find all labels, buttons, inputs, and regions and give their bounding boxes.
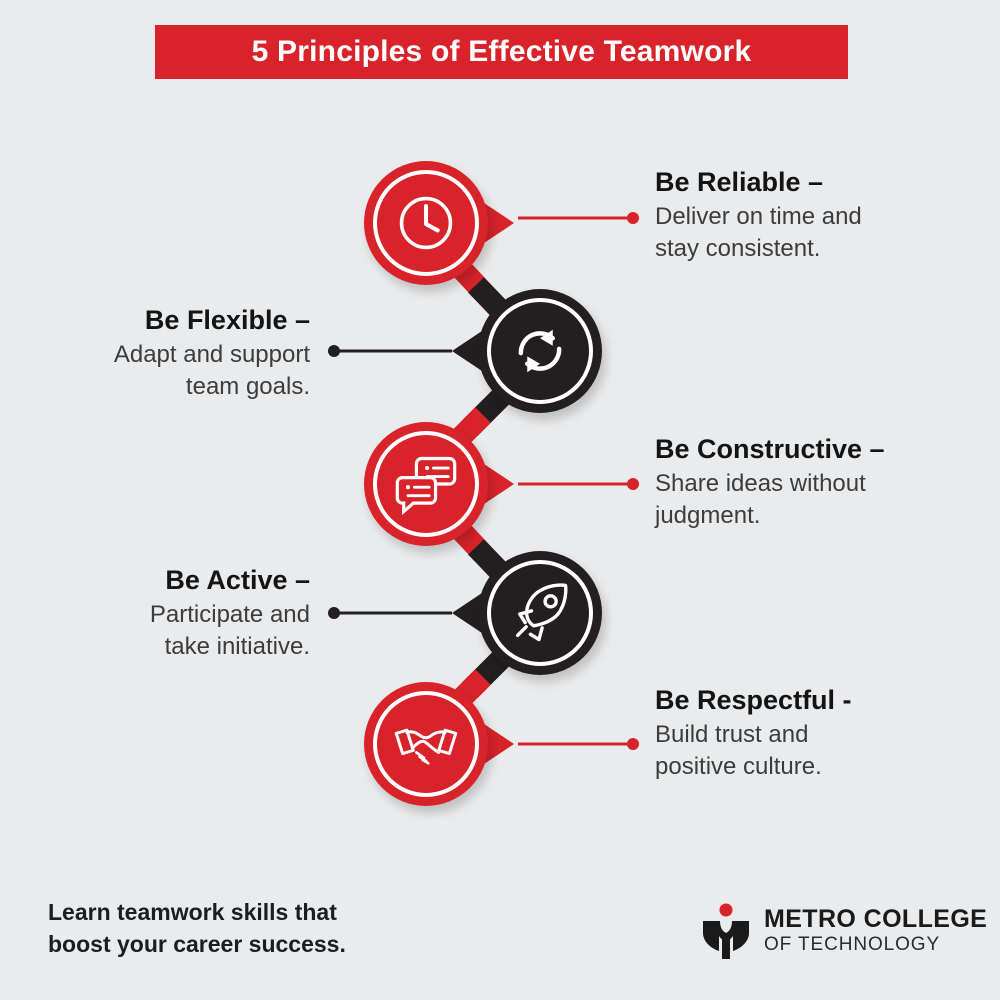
m-monogram-icon: [700, 903, 752, 959]
logo-dot: [720, 904, 733, 917]
caption-body-line1: Participate and: [0, 599, 310, 631]
caption-body-line2: positive culture.: [655, 751, 985, 783]
caption-body-line1: Share ideas without: [655, 468, 995, 500]
clock-icon: [392, 189, 460, 257]
caption-heading: Be Constructive –: [655, 433, 995, 466]
infographic-canvas: 5 Principles of Effective Teamwork: [0, 0, 1000, 1000]
node-pointer-right: [484, 464, 514, 504]
caption-heading: Be Respectful -: [655, 684, 985, 717]
caption-active: Be Active – Participate and take initiat…: [0, 564, 310, 663]
principle-node-reliable[interactable]: [364, 161, 488, 285]
node-pointer-right: [484, 724, 514, 764]
caption-constructive: Be Constructive – Share ideas without ju…: [655, 433, 995, 532]
principle-node-constructive[interactable]: [364, 422, 488, 546]
leader-line-reliable: [518, 212, 639, 224]
leader-line-active: [328, 607, 452, 619]
caption-heading: Be Reliable –: [655, 166, 985, 199]
caption-body-line2: take initiative.: [0, 631, 310, 663]
caption-body-line2: judgment.: [655, 500, 995, 532]
caption-body-line2: stay consistent.: [655, 233, 985, 265]
caption-flexible: Be Flexible – Adapt and support team goa…: [0, 304, 310, 403]
handshake-icon: [392, 710, 460, 778]
leader-line-respectful: [518, 738, 639, 750]
rocket-icon: [506, 579, 574, 647]
caption-heading: Be Flexible –: [0, 304, 310, 337]
principle-node-respectful[interactable]: [364, 682, 488, 806]
logo-mark: [700, 903, 752, 959]
logo-name-line1: METRO COLLEGE: [764, 906, 987, 934]
metro-college-logo: METRO COLLEGE OF TECHNOLOGY: [700, 900, 987, 962]
caption-body-line1: Adapt and support: [0, 339, 310, 371]
footer-tagline: Learn teamwork skills that boost your ca…: [48, 897, 448, 960]
chat-bubbles-icon: [392, 450, 460, 518]
footer-tagline-line1: Learn teamwork skills that: [48, 897, 448, 929]
footer-tagline-line2: boost your career success.: [48, 929, 448, 961]
logo-wordmark: METRO COLLEGE OF TECHNOLOGY: [764, 906, 987, 955]
node-pointer-right: [484, 203, 514, 243]
refresh-cycle-icon: [506, 317, 574, 385]
caption-respectful: Be Respectful - Build trust and positive…: [655, 684, 985, 783]
logo-name-line2: OF TECHNOLOGY: [764, 934, 987, 956]
leader-line-flexible: [328, 345, 452, 357]
caption-heading: Be Active –: [0, 564, 310, 597]
leader-line-constructive: [518, 478, 639, 490]
caption-body-line1: Build trust and: [655, 719, 985, 751]
principle-node-flexible[interactable]: [478, 289, 602, 413]
caption-reliable: Be Reliable – Deliver on time and stay c…: [655, 166, 985, 265]
caption-body-line2: team goals.: [0, 371, 310, 403]
principle-node-active[interactable]: [478, 551, 602, 675]
caption-body-line1: Deliver on time and: [655, 201, 985, 233]
